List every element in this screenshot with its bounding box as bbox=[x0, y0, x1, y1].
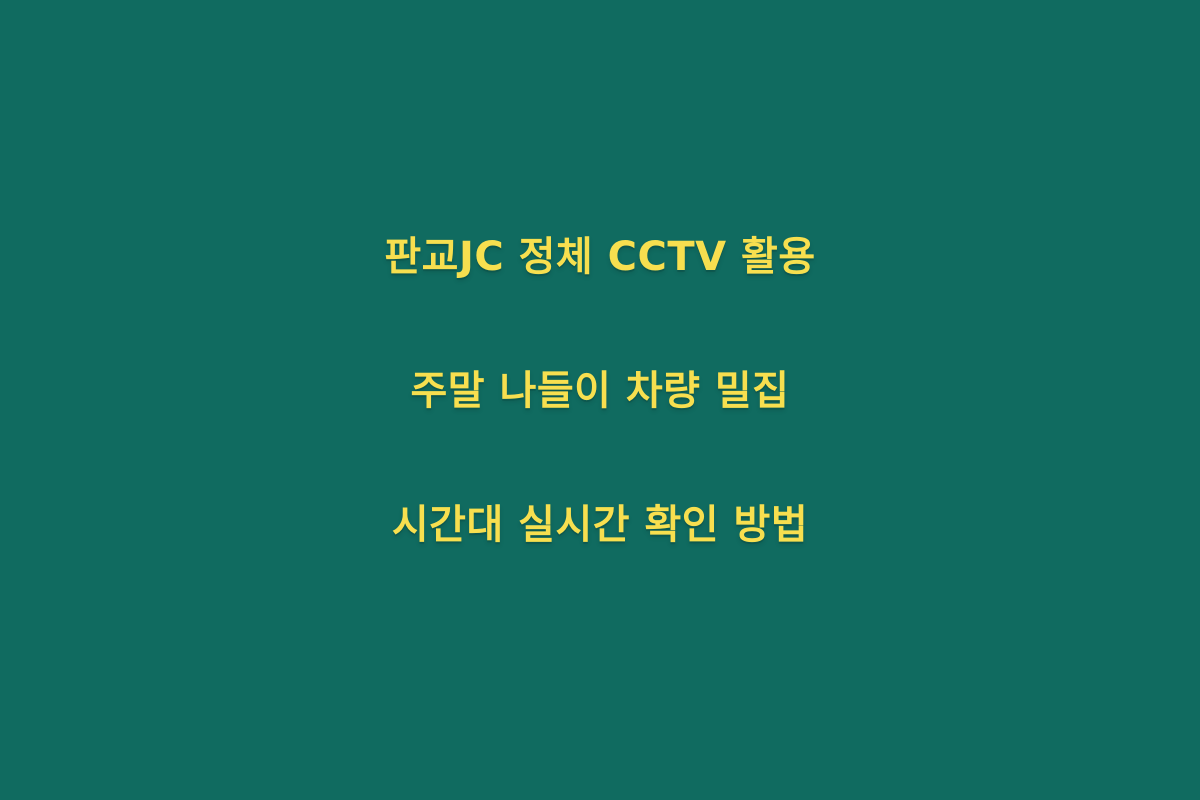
headline-block: 판교JC 정체 CCTV 활용 주말 나들이 차량 밀집 시간대 실시간 확인 … bbox=[40, 190, 1160, 592]
thumbnail-card: 판교JC 정체 CCTV 활용 주말 나들이 차량 밀집 시간대 실시간 확인 … bbox=[0, 0, 1200, 800]
headline-line-2: 주말 나들이 차량 밀집 bbox=[40, 324, 1160, 458]
headline-line-1: 판교JC 정체 CCTV 활용 bbox=[40, 190, 1160, 324]
headline-line-3: 시간대 실시간 확인 방법 bbox=[40, 458, 1160, 592]
